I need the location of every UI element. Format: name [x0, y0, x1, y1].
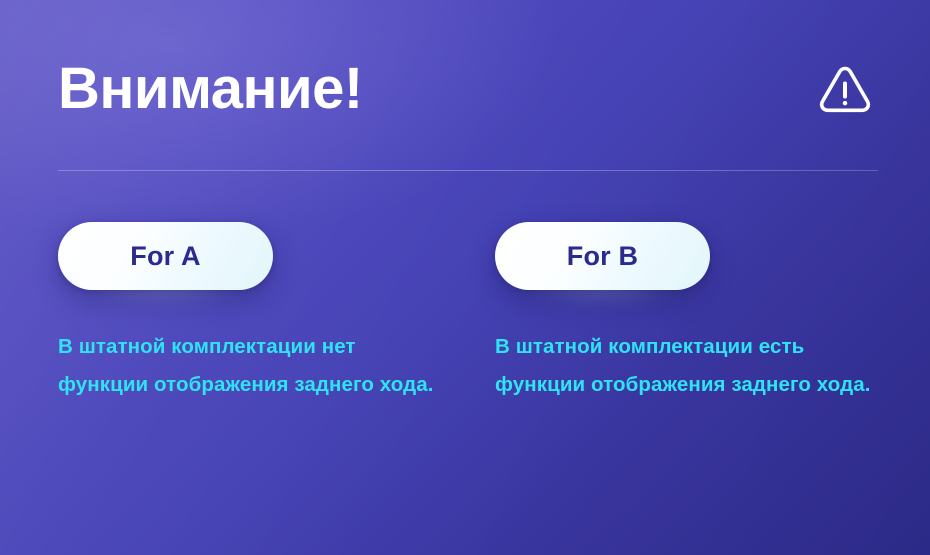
page-title: Внимание!	[58, 60, 363, 118]
option-a-description: В штатной комплектации нет функции отобр…	[58, 328, 448, 404]
for-a-button-label: For A	[130, 243, 201, 270]
for-a-button-wrap: For A	[58, 222, 273, 290]
option-b-description: В штатной комплектации есть функции отоб…	[495, 328, 885, 404]
for-b-button-wrap: For B	[495, 222, 710, 290]
warning-banner: Внимание! For A В штатной комплектации н…	[0, 0, 930, 555]
for-b-button[interactable]: For B	[495, 222, 710, 290]
banner-header: Внимание!	[58, 46, 878, 132]
for-b-button-label: For B	[567, 243, 639, 270]
warning-triangle-icon	[816, 60, 874, 118]
header-divider	[58, 170, 878, 171]
for-a-button[interactable]: For A	[58, 222, 273, 290]
option-column-b: For B В штатной комплектации есть функци…	[495, 222, 895, 404]
option-column-a: For A В штатной комплектации нет функции…	[58, 222, 458, 404]
